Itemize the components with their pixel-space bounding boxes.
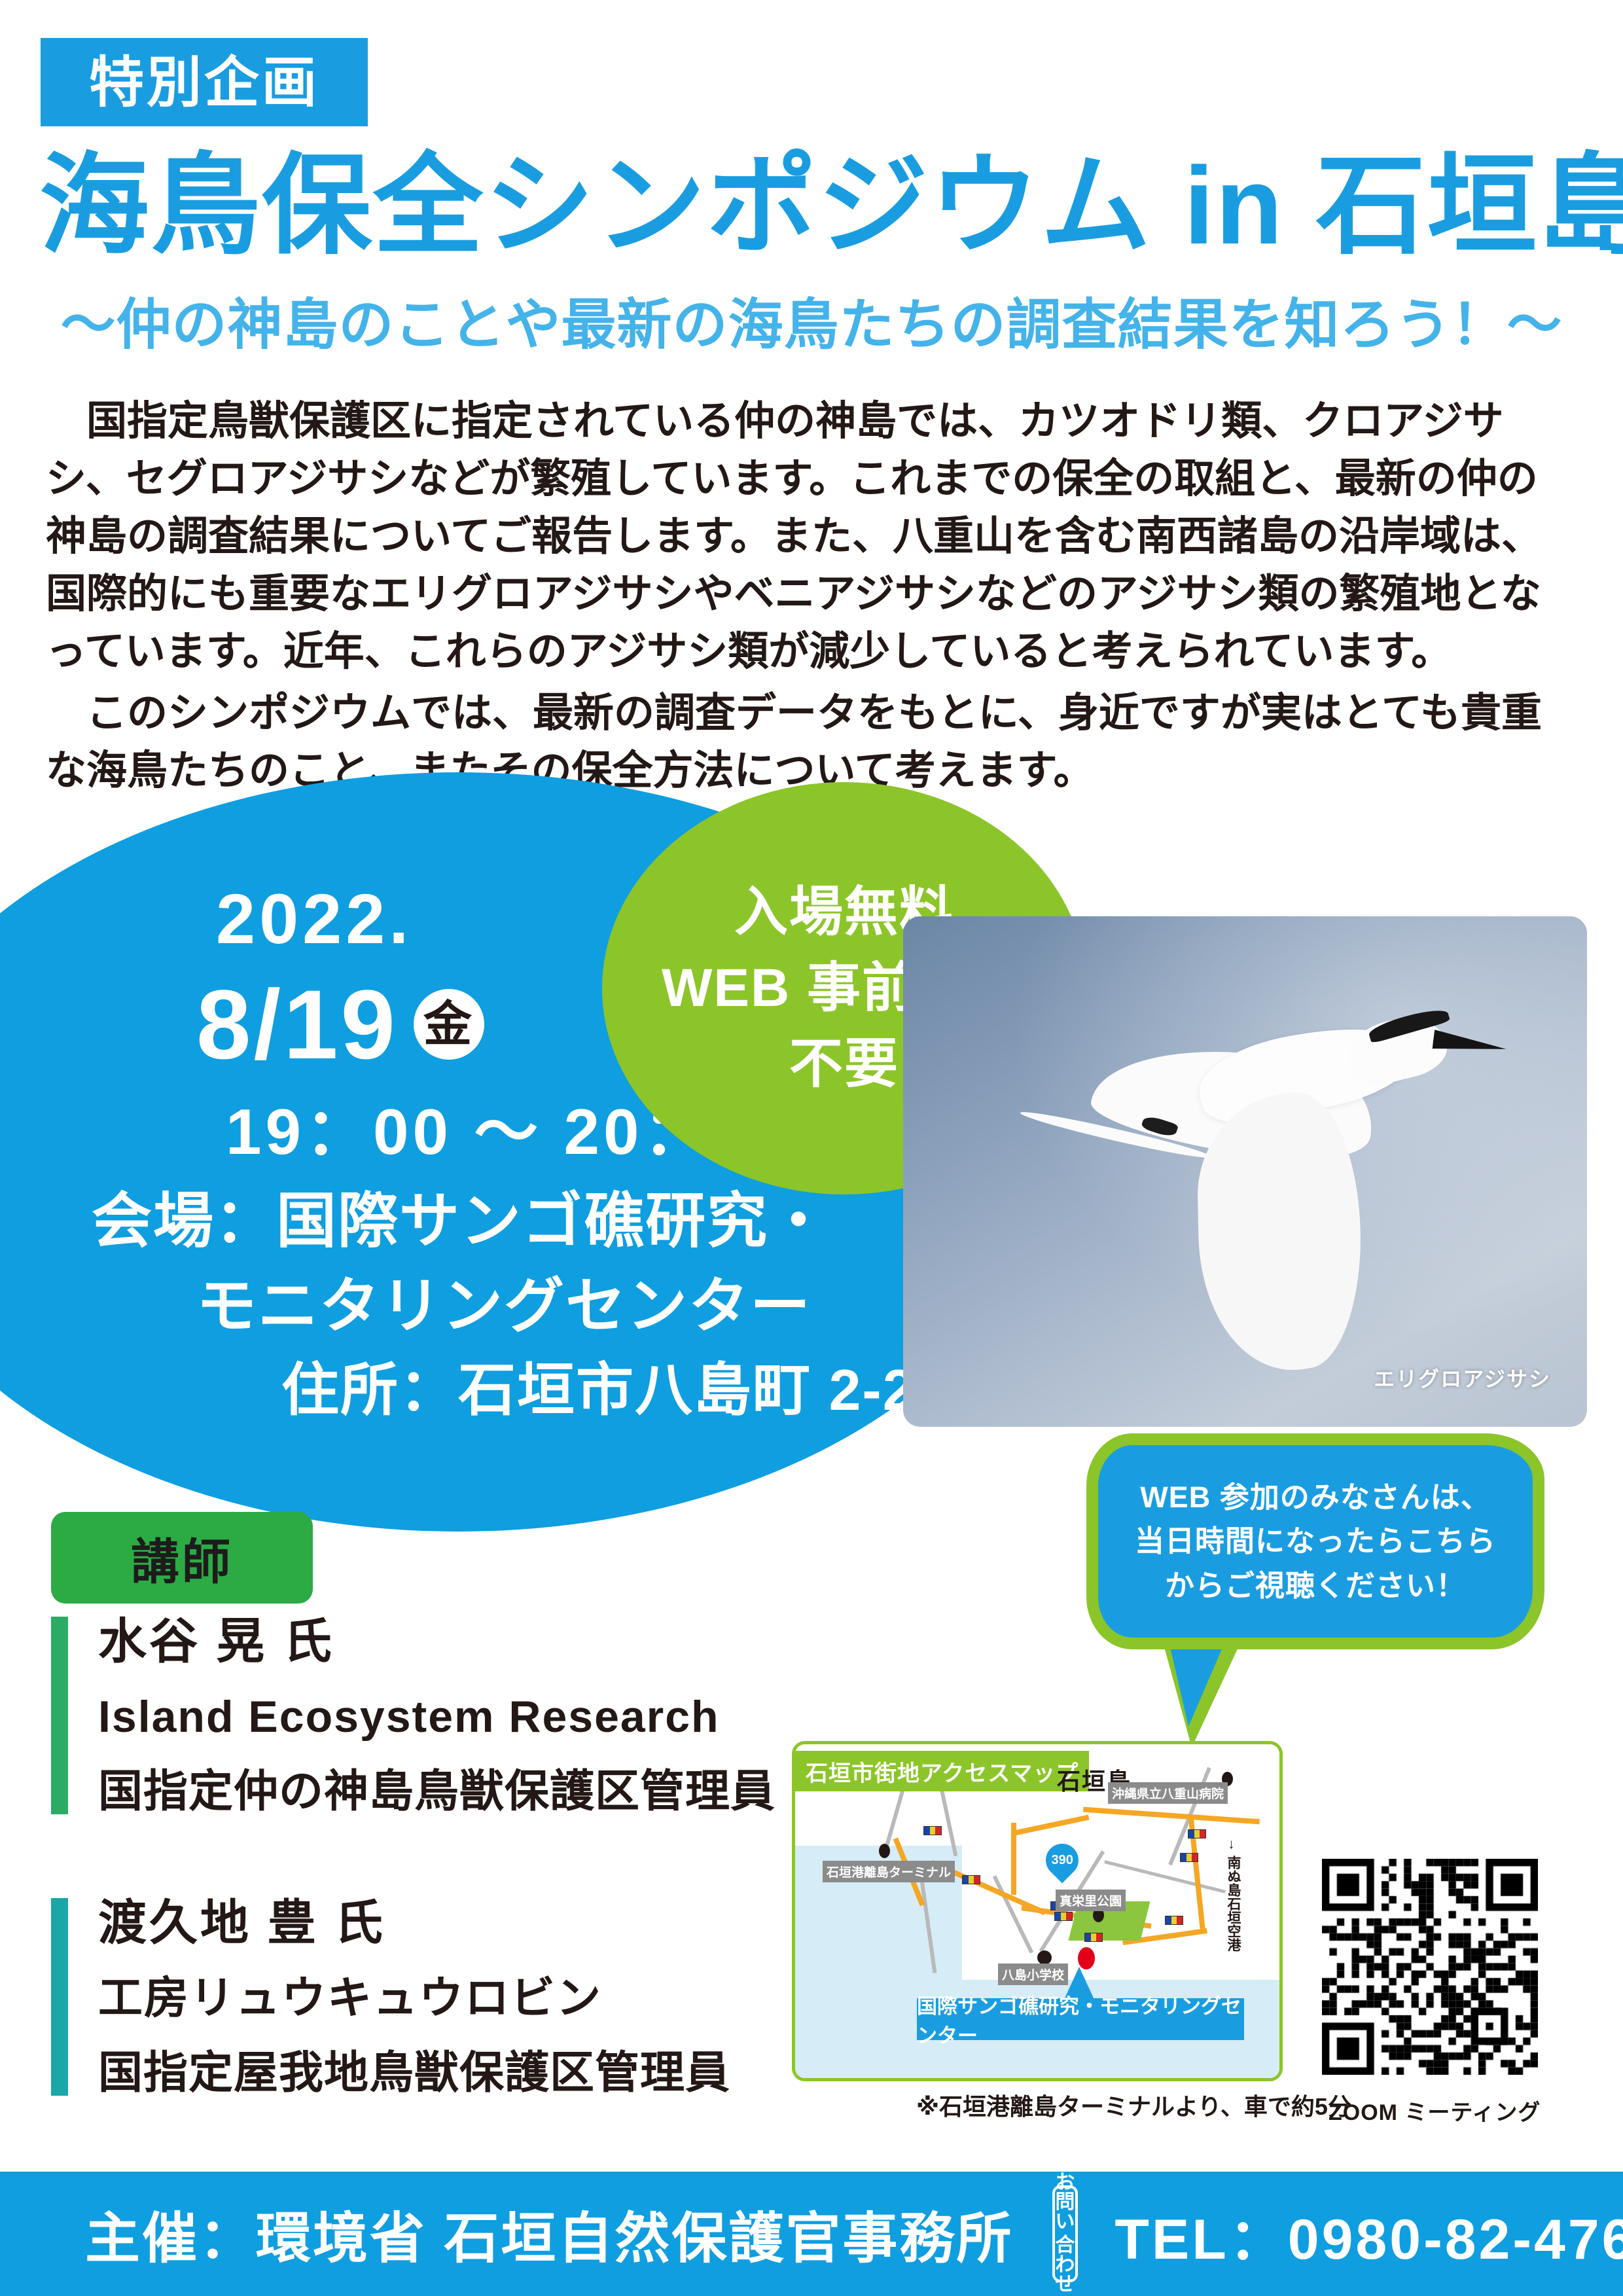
inquiry-line-2: 合わせ xyxy=(1055,2236,1075,2295)
map-venue-callout: 国際サンゴ礁研究・モニタリングセンター xyxy=(917,1998,1244,2040)
event-year: 2022. xyxy=(216,884,412,954)
tern-lower-wing xyxy=(1196,1082,1363,1385)
map-marker-dot xyxy=(879,1844,890,1858)
map-title: 石垣市街地アクセスマップ xyxy=(795,1751,1089,1791)
bubble-tail-inner xyxy=(1169,1641,1225,1727)
page-title: 海鳥保全シンポジウム in 石垣島 xyxy=(39,147,1584,264)
map-traffic-signal xyxy=(962,1875,980,1884)
event-address: 住所：石垣市八島町 2-27 xyxy=(281,1361,950,1419)
map-label-airport: → 南ぬ島石垣空港 xyxy=(1219,1836,1247,1954)
intro-paragraph-1: 国指定鳥獣保護区に指定されている仲の神島では、カツオドリ類、クロアジサシ、セグロ… xyxy=(46,393,1571,681)
map-traffic-signal xyxy=(1188,1829,1206,1839)
lecturer-role: 国指定仲の神島鳥獣保護区管理員 xyxy=(98,1769,823,1814)
lecturer-tag-label: 講師 xyxy=(131,1523,233,1593)
map-label-elementary-school: 八島小学校 xyxy=(998,1964,1068,1985)
bubble-line-1: WEB 参加のみなさんは、 xyxy=(1140,1481,1491,1514)
inquiry-line-1: お問い xyxy=(1055,2173,1075,2232)
qr-code-canvas[interactable] xyxy=(1322,1859,1538,2075)
route-390-label: 390 xyxy=(1051,1853,1073,1868)
lecturer-organization: Island Ecosystem Research xyxy=(98,1695,823,1740)
map-label-ferry-terminal: 石垣港離島ターミナル xyxy=(823,1861,955,1882)
map-label-hospital: 沖縄県立八重山病院 xyxy=(1108,1782,1228,1804)
bubble-body: WEB 参加のみなさんは、 当日時間になったらこちら からご視聴ください！ xyxy=(1086,1433,1544,1649)
map-traffic-signal xyxy=(1165,1916,1183,1925)
footer-host: 主催：環境省 石垣自然保護官事務所 xyxy=(85,2195,1013,2274)
tern-photo: エリグロアジサシ xyxy=(903,916,1587,1427)
lecturer-accent-bar xyxy=(51,1898,68,2096)
special-feature-badge-label: 特別企画 xyxy=(89,55,319,110)
map-venue-marker xyxy=(1078,1947,1095,1969)
event-venue-line1: 会場：国際サンゴ礁研究・ xyxy=(92,1191,830,1251)
event-day-of-week: 金 xyxy=(414,989,484,1060)
lecturer-entry-2: 渡久地 豊 氏 工房リュウキュウロビン 国指定屋我地鳥獣保護区管理員 xyxy=(51,1898,823,2096)
black-naped-tern-illustration xyxy=(982,988,1505,1368)
photo-caption: エリグロアジサシ xyxy=(1374,1363,1551,1393)
map-traffic-signal xyxy=(1084,1933,1103,1942)
bubble-line-3: からご視聴ください！ xyxy=(1165,1570,1466,1602)
web-viewing-bubble: WEB 参加のみなさんは、 当日時間になったらこちら からご視聴ください！ xyxy=(1086,1433,1544,1649)
map-access-note: ※石垣港離島ターミナルより、車で約5分 xyxy=(916,2088,1351,2122)
lecturer-role: 国指定屋我地鳥獣保護区管理員 xyxy=(98,2051,823,2096)
lecturer-accent-bar xyxy=(51,1617,68,1814)
lecturer-name: 渡久地 豊 氏 xyxy=(98,1898,823,1947)
lecturer-section-tag: 講師 xyxy=(51,1512,313,1604)
special-feature-badge: 特別企画 xyxy=(41,38,368,126)
footer-bar: 主催：環境省 石垣自然保護官事務所 お問い 合わせ TEL：0980-82-47… xyxy=(0,2172,1623,2296)
lecturer-name: 水谷 晃 氏 xyxy=(98,1617,823,1666)
inquiry-box: お問い 合わせ xyxy=(1052,2185,1078,2282)
event-date-value: 8/19 xyxy=(196,975,398,1073)
event-date: 8/19 金 xyxy=(196,975,484,1073)
map-traffic-signal xyxy=(1054,1912,1073,1921)
poster-root: 特別企画 海鳥保全シンポジウム in 石垣島 ～仲の神島のことや最新の海鳥たちの… xyxy=(0,0,1623,2296)
admission-line-3: 不要 xyxy=(789,1037,899,1091)
event-venue-line2: モニタリングセンター xyxy=(196,1276,811,1336)
zoom-qr-label: ZOOM ミーティング xyxy=(1329,2094,1541,2126)
lecturer-organization: 工房リュウキュウロビン xyxy=(98,1976,823,2021)
map-traffic-signal xyxy=(1180,1853,1198,1862)
footer-telephone: TEL：0980-82-4768 xyxy=(1115,2193,1623,2275)
page-subtitle: ～仲の神島のことや最新の海鳥たちの調査結果を知ろう！～ xyxy=(39,295,1584,355)
zoom-qr-code[interactable] xyxy=(1322,1859,1538,2075)
access-map: 390 石垣市街地アクセスマップ 石垣島 沖縄県立八重山病院 石垣港離島ターミナ… xyxy=(792,1741,1283,2081)
map-traffic-signal xyxy=(923,1826,942,1835)
map-label-park: 真栄里公園 xyxy=(1056,1890,1126,1911)
lecturer-entry-1: 水谷 晃 氏 Island Ecosystem Research 国指定仲の神島… xyxy=(51,1617,823,1814)
bubble-line-2: 当日時間になったらこちら xyxy=(1135,1525,1496,1558)
intro-text: 国指定鳥獣保護区に指定されている仲の神島では、カツオドリ類、クロアジサシ、セグロ… xyxy=(46,393,1571,804)
map-school-marker xyxy=(1037,1950,1052,1965)
